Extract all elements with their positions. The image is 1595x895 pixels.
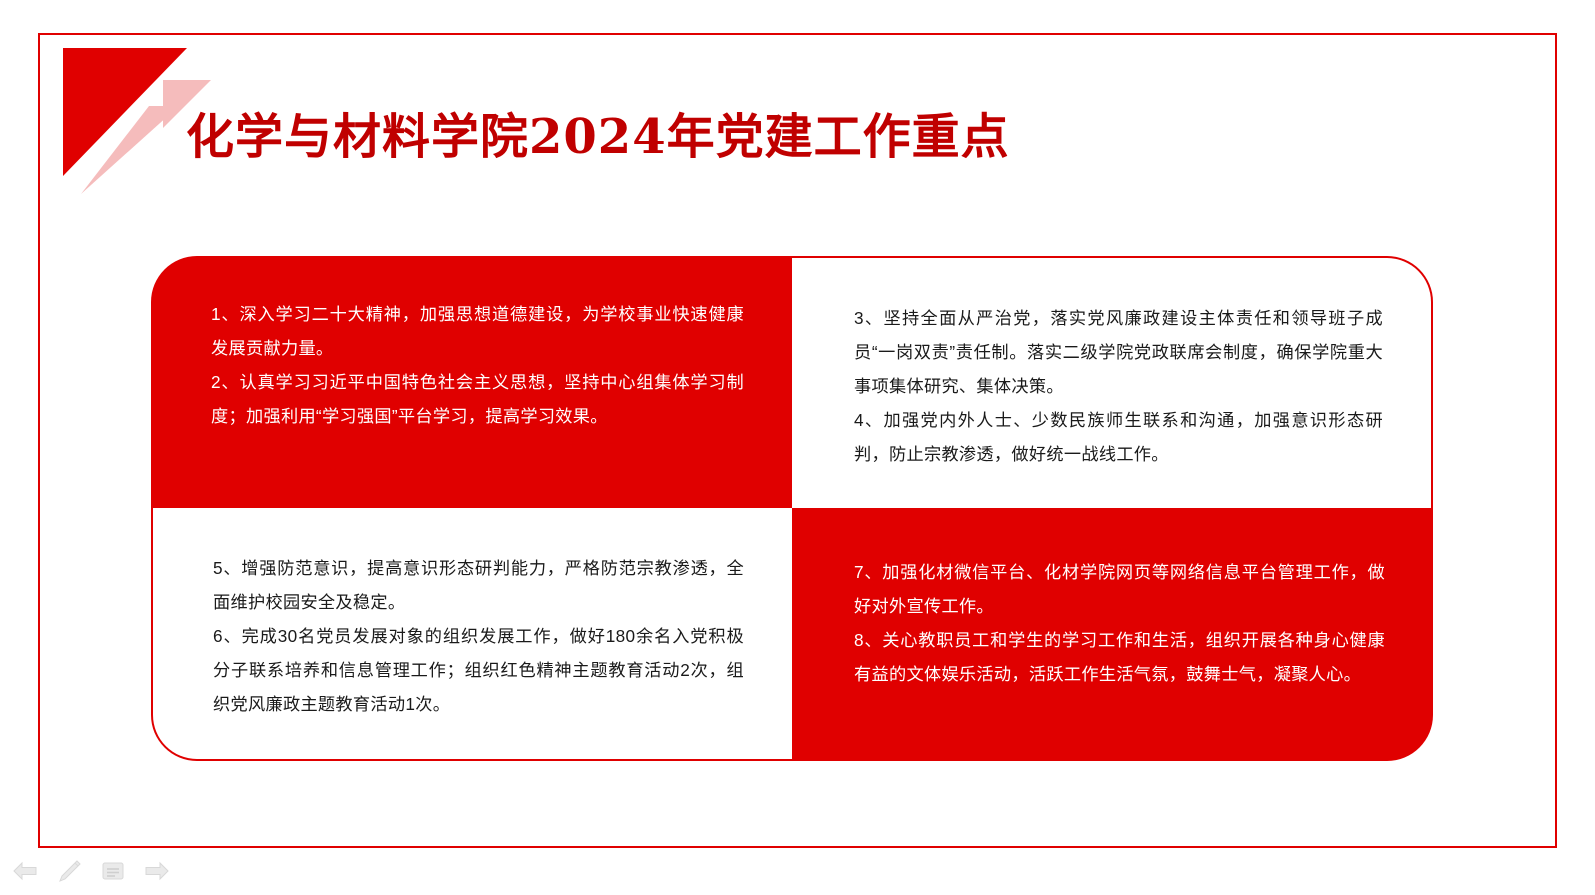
content-grid: 1、深入学习二十大精神，加强思想道德建设，为学校事业快速健康发展贡献力量。 2、… [151,256,1409,761]
content-panel-1[interactable]: 1、深入学习二十大精神，加强思想道德建设，为学校事业快速健康发展贡献力量。 2、… [151,256,792,509]
panel-1-line-1: 1、深入学习二十大精神，加强思想道德建设，为学校事业快速健康发展贡献力量。 [211,298,744,366]
content-panel-2[interactable]: 3、坚持全面从严治党，落实党风廉政建设主体责任和领导班子成员“一岗双责”责任制。… [792,256,1433,509]
panel-3-line-2: 6、完成30名党员发展对象的组织发展工作，做好180余名入党积极分子联系培养和信… [213,620,744,722]
previous-arrow-icon[interactable] [12,858,38,884]
panel-3-line-1: 5、增强防范意识，提高意识形态研判能力，严格防范宗教渗透，全面维护校园安全及稳定… [213,552,744,620]
panel-2-line-1: 3、坚持全面从严治党，落实党风廉政建设主体责任和领导班子成员“一岗双责”责任制。… [854,302,1383,404]
presentation-toolbar [12,858,170,884]
panel-4-line-2: 8、关心教职员工和学生的学习工作和生活，组织开展各种身心健康有益的文体娱乐活动，… [854,624,1385,692]
pencil-icon[interactable] [56,858,82,884]
panel-3-text: 5、增强防范意识，提高意识形态研判能力，严格防范宗教渗透，全面维护校园安全及稳定… [213,552,744,721]
panel-4-line-1: 7、加强化材微信平台、化材学院网页等网络信息平台管理工作，做好对外宣传工作。 [854,556,1385,624]
content-panel-4[interactable]: 7、加强化材微信平台、化材学院网页等网络信息平台管理工作，做好对外宣传工作。 8… [792,508,1433,761]
panel-1-line-2: 2、认真学习习近平中国特色社会主义思想，坚持中心组集体学习制度；加强利用“学习强… [211,366,744,434]
panel-2-line-2: 4、加强党内外人士、少数民族师生联系和沟通，加强意识形态研判，防止宗教渗透，做好… [854,404,1383,472]
panel-4-text: 7、加强化材微信平台、化材学院网页等网络信息平台管理工作，做好对外宣传工作。 8… [854,556,1385,692]
panel-2-text: 3、坚持全面从严治党，落实党风廉政建设主体责任和领导班子成员“一岗双责”责任制。… [854,302,1383,471]
content-panel-3[interactable]: 5、增强防范意识，提高意识形态研判能力，严格防范宗教渗透，全面维护校园安全及稳定… [151,508,792,761]
panel-1-text: 1、深入学习二十大精神，加强思想道德建设，为学校事业快速健康发展贡献力量。 2、… [211,298,744,434]
next-arrow-icon[interactable] [144,858,170,884]
notes-icon[interactable] [100,858,126,884]
slide-canvas: 化学与材料学院2024年党建工作重点 1、深入学习二十大精神，加强思想道德建设，… [0,0,1595,895]
page-title: 化学与材料学院2024年党建工作重点 [186,112,1010,162]
